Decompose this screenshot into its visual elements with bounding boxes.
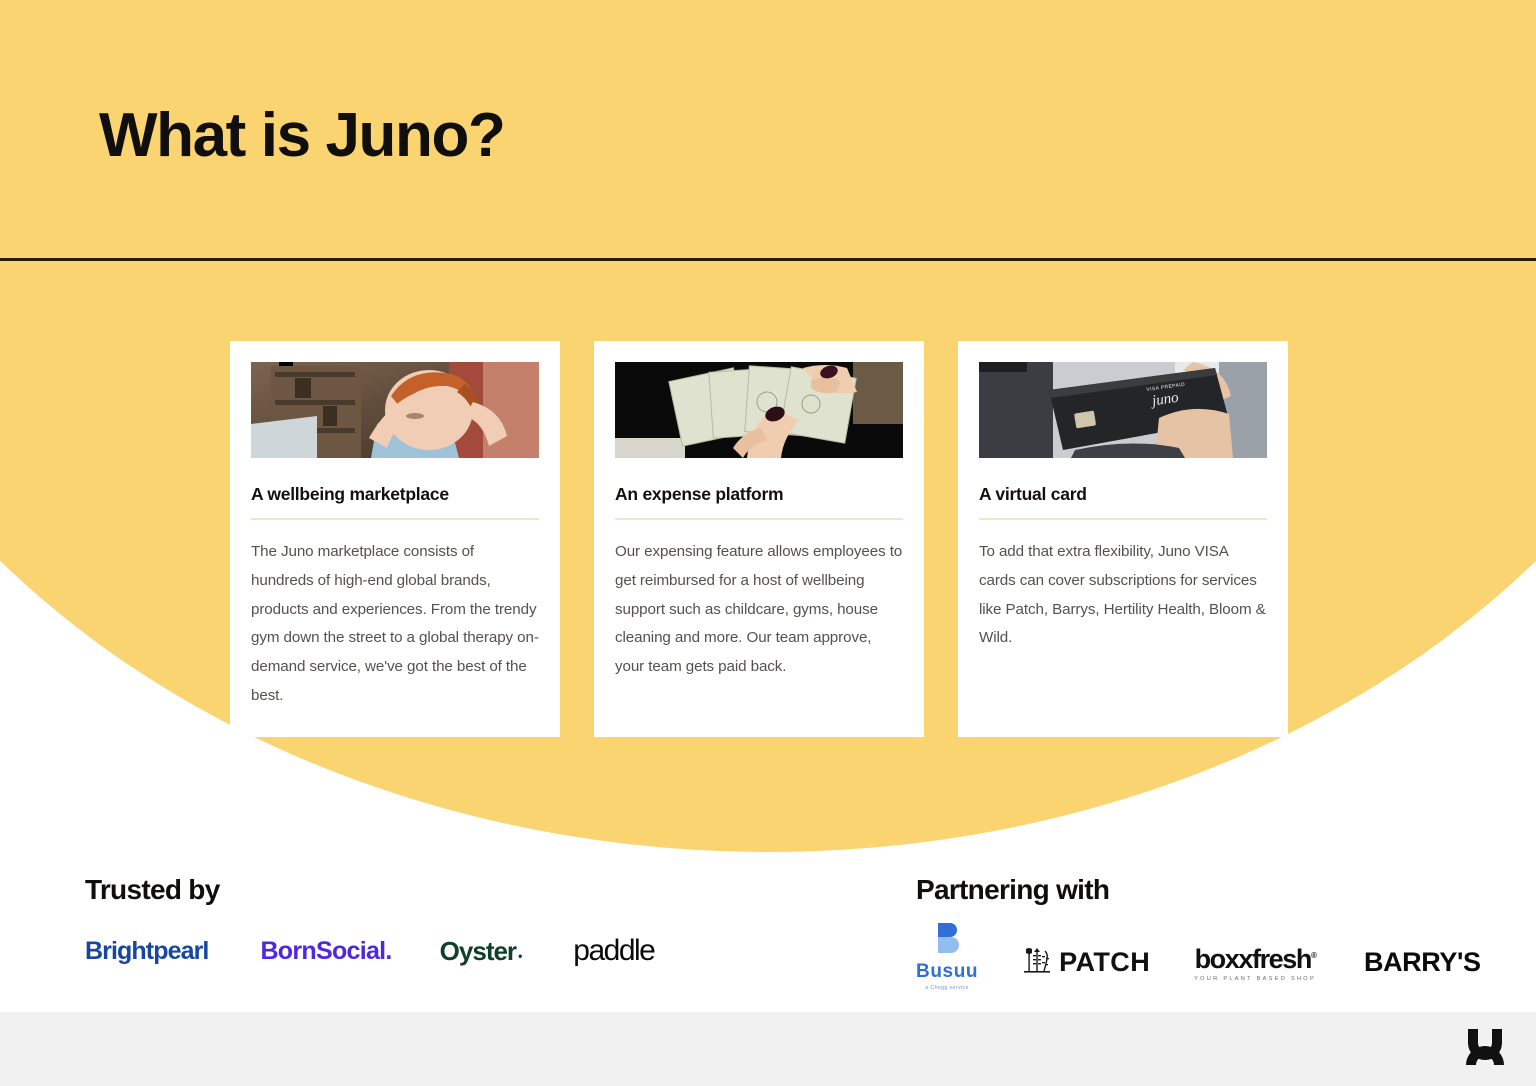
partnering-with-logo-row: Busuu a Chegg service xyxy=(916,934,1481,991)
card-heading: An expense platform xyxy=(615,484,903,505)
card-divider xyxy=(979,518,1267,520)
juno-logo-mark-icon xyxy=(1462,1025,1508,1074)
footer-bar xyxy=(0,1012,1536,1086)
boxxfresh-registered-icon: ® xyxy=(1311,951,1316,960)
patch-logo: PATCH xyxy=(1022,946,1150,979)
card-divider xyxy=(615,518,903,520)
barrys-logo-text: BARRY'S xyxy=(1364,947,1481,978)
paddle-logo: paddle xyxy=(573,934,654,968)
patch-plant-icon xyxy=(1022,946,1052,979)
partnering-with-section: Partnering with Busuu a Chegg service xyxy=(916,874,1481,991)
partnering-with-title: Partnering with xyxy=(916,874,1481,906)
trusted-by-title: Trusted by xyxy=(85,874,654,906)
patch-logo-text: PATCH xyxy=(1059,947,1150,978)
barrys-logo: BARRY'S xyxy=(1364,947,1481,978)
busuu-logo-tagline: a Chegg service xyxy=(925,985,969,991)
boxxfresh-logo-tagline: YOUR PLANT BASED SHOP xyxy=(1194,976,1316,982)
logo-sections: Trusted by Brightpearl BornSocial. Oyste… xyxy=(0,874,1536,1004)
feature-card: VISA PREPAID juno A virtual card To add … xyxy=(958,341,1288,737)
feature-card-list: A wellbeing marketplace The Juno marketp… xyxy=(230,341,1290,737)
boxxfresh-logo: boxxfresh® YOUR PLANT BASED SHOP xyxy=(1194,944,1316,982)
busuu-b-mark-icon xyxy=(930,920,964,959)
expense-platform-image xyxy=(615,362,903,458)
virtual-card-image: VISA PREPAID juno xyxy=(979,362,1267,458)
card-body: The Juno marketplace consists of hundred… xyxy=(251,538,539,711)
wellbeing-marketplace-image xyxy=(251,362,539,458)
card-divider xyxy=(251,518,539,520)
oyster-logo: Oyster • xyxy=(440,936,522,967)
card-heading: A virtual card xyxy=(979,484,1267,505)
oyster-logo-dot: • xyxy=(518,949,521,963)
trusted-by-section: Trusted by Brightpearl BornSocial. Oyste… xyxy=(85,874,654,968)
feature-card: An expense platform Our expensing featur… xyxy=(594,341,924,737)
trusted-by-logo-row: Brightpearl BornSocial. Oyster • paddle xyxy=(85,934,654,968)
brightpearl-logo: Brightpearl xyxy=(85,937,208,966)
header-divider-rule xyxy=(0,258,1536,261)
page-title: What is Juno? xyxy=(99,105,504,167)
card-heading: A wellbeing marketplace xyxy=(251,484,539,505)
card-body: To add that extra flexibility, Juno VISA… xyxy=(979,538,1267,653)
feature-card: A wellbeing marketplace The Juno marketp… xyxy=(230,341,560,737)
boxxfresh-logo-text: boxxfresh® xyxy=(1195,944,1316,975)
bornsocial-logo: BornSocial. xyxy=(260,937,391,966)
busuu-logo-text: Busuu xyxy=(916,961,978,983)
busuu-logo: Busuu a Chegg service xyxy=(916,920,978,991)
oyster-logo-text: Oyster xyxy=(440,936,516,967)
card-body: Our expensing feature allows employees t… xyxy=(615,538,903,682)
